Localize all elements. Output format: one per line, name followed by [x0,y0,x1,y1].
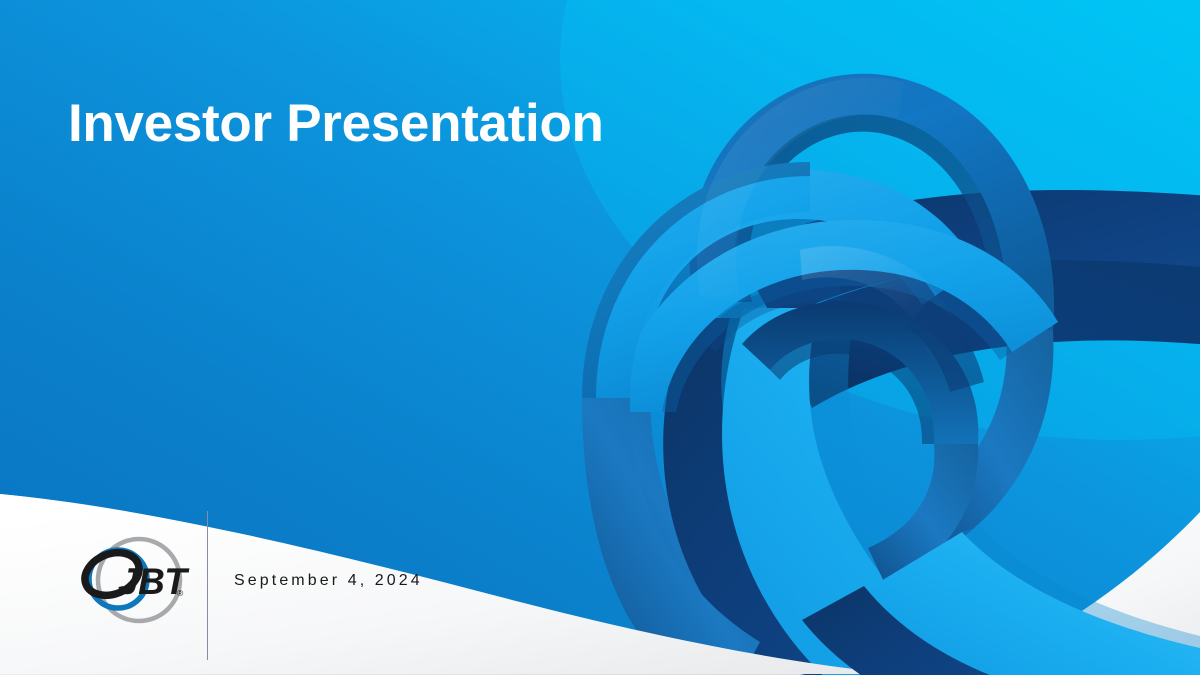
page-title: Investor Presentation [68,96,604,152]
slide-footer: JBT ® September 4, 2024 [0,495,1200,675]
jbt-logo-icon: JBT ® [66,526,190,634]
jbt-logo: JBT ® [66,526,190,634]
presentation-date: September 4, 2024 [234,572,423,590]
title-block: Investor Presentation [68,96,604,152]
footer-divider [207,511,208,660]
registered-trademark-icon: ® [177,588,184,598]
presentation-title-slide: Investor Presentation JBT ® Sep [0,0,1200,675]
